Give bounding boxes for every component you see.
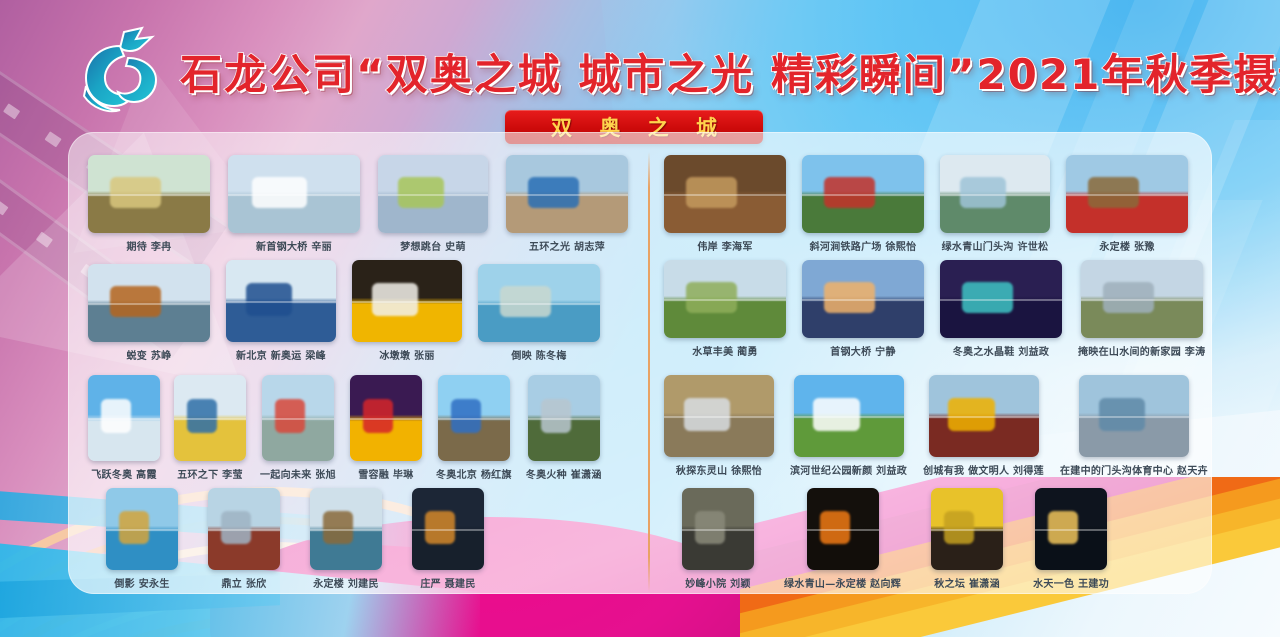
photo-item[interactable]: 冬奥之水晶鞋 刘益政: [940, 260, 1062, 358]
photo-caption: 秋探东灵山 徐熙怡: [676, 462, 762, 477]
photo-horizon: [931, 529, 1003, 531]
photo-thumbnail[interactable]: [88, 155, 210, 233]
photo-horizon: [940, 299, 1062, 301]
photo-item[interactable]: 冬奥北京 杨红旗: [436, 375, 512, 481]
photo-accent-shape: [110, 177, 161, 208]
photo-accent-shape: [813, 398, 859, 431]
photo-row: 飞跃冬奥 高霞五环之下 李莹一起向未来 张旭雪容融 毕琳冬奥北京 杨红旗冬奥火种…: [88, 375, 602, 481]
photo-item[interactable]: 新首钢大桥 辛丽: [228, 155, 360, 253]
photo-item[interactable]: 在建中的门头沟体育中心 赵天卉: [1060, 375, 1208, 477]
photo-caption: 庄严 聂建民: [420, 575, 475, 590]
photo-accent-shape: [363, 399, 393, 433]
photo-thumbnail[interactable]: [174, 375, 246, 461]
photo-accent-shape: [960, 177, 1006, 208]
photo-caption: 新首钢大桥 辛丽: [256, 238, 332, 253]
photo-item[interactable]: 创城有我 做文明人 刘得莲: [923, 375, 1044, 477]
photo-accent-shape: [398, 177, 444, 208]
photo-horizon: [174, 418, 246, 420]
photo-accent-shape: [695, 511, 725, 544]
photo-caption: 梦想跳台 史萌: [400, 238, 466, 253]
photo-horizon: [352, 301, 462, 303]
photo-horizon: [378, 194, 488, 196]
photo-item[interactable]: 飞跃冬奥 高霞: [88, 375, 160, 481]
photo-item[interactable]: 水草丰美 蔺勇: [664, 260, 786, 358]
photo-item[interactable]: 一起向未来 张旭: [260, 375, 336, 481]
photo-item[interactable]: 五环之光 胡志萍: [506, 155, 628, 253]
photo-caption: 秋之坛 崔潇涵: [934, 575, 1000, 590]
photo-accent-shape: [425, 511, 455, 544]
photo-caption: 雪容融 毕琳: [358, 466, 413, 481]
photo-caption: 冰墩墩 张丽: [379, 347, 434, 362]
photo-caption: 鼎立 张欣: [222, 575, 267, 590]
photo-item[interactable]: 秋探东灵山 徐熙怡: [664, 375, 774, 477]
photo-caption: 滨河世纪公园新颜 刘益政: [790, 462, 907, 477]
photo-item[interactable]: 首钢大桥 宁静: [802, 260, 924, 358]
page-title: 石龙公司“双奥之城 城市之光 精彩瞬间”2021年秋季摄影展: [180, 44, 1210, 106]
photo-horizon: [929, 416, 1039, 418]
photo-accent-shape: [323, 511, 353, 544]
photo-accent-shape: [110, 286, 161, 317]
photo-item[interactable]: 冬奥火种 崔潇涵: [526, 375, 602, 481]
photo-horizon: [262, 418, 334, 420]
photo-caption: 永定楼 刘建民: [313, 575, 379, 590]
photo-thumbnail[interactable]: [208, 488, 280, 570]
photo-accent-shape: [686, 282, 737, 313]
photo-accent-shape: [187, 399, 217, 433]
photo-horizon: [664, 299, 786, 301]
photo-thumbnail[interactable]: [506, 155, 628, 233]
photo-thumbnail[interactable]: [226, 260, 336, 342]
photo-horizon: [664, 194, 786, 196]
photo-accent-shape: [684, 398, 730, 431]
photo-accent-shape: [541, 399, 571, 433]
photo-caption: 斜河涧铁路广场 徐熙怡: [810, 238, 917, 253]
photo-caption: 期待 李冉: [127, 238, 172, 253]
photo-thumbnail[interactable]: [1066, 155, 1188, 233]
photo-caption: 蜕变 苏峥: [127, 347, 172, 362]
photo-thumbnail[interactable]: [794, 375, 904, 457]
photo-thumbnail[interactable]: [940, 260, 1062, 338]
photo-thumbnail[interactable]: [664, 375, 774, 457]
photo-caption: 五环之光 胡志萍: [529, 238, 605, 253]
photo-item[interactable]: 倒映 陈冬梅: [478, 264, 600, 362]
photo-accent-shape: [252, 177, 307, 208]
photo-caption: 首钢大桥 宁静: [830, 343, 896, 358]
photo-caption: 冬奥火种 崔潇涵: [526, 466, 602, 481]
photo-row: 秋探东灵山 徐熙怡滨河世纪公园新颜 刘益政创城有我 做文明人 刘得莲在建中的门头…: [664, 375, 1208, 477]
photo-thumbnail[interactable]: [929, 375, 1039, 457]
photo-accent-shape: [451, 399, 481, 433]
photo-horizon: [88, 194, 210, 196]
photo-thumbnail[interactable]: [802, 155, 924, 233]
poster-canvas: 石龙公司“双奥之城 城市之光 精彩瞬间”2021年秋季摄影展 双 奥 之 城 期…: [0, 0, 1280, 637]
photo-caption: 飞跃冬奥 高霞: [91, 466, 157, 481]
photo-caption: 在建中的门头沟体育中心 赵天卉: [1060, 462, 1208, 477]
photo-accent-shape: [962, 282, 1013, 313]
photo-horizon: [802, 194, 924, 196]
photo-item[interactable]: 庄严 聂建民: [412, 488, 484, 590]
photo-row: 期待 李冉新首钢大桥 辛丽梦想跳台 史萌五环之光 胡志萍: [88, 155, 628, 253]
photo-horizon: [88, 303, 210, 305]
photo-horizon: [1079, 416, 1189, 418]
photo-accent-shape: [1099, 398, 1145, 431]
photo-item[interactable]: 期待 李冉: [88, 155, 210, 253]
photo-horizon: [208, 529, 280, 531]
photo-thumbnail[interactable]: [940, 155, 1050, 233]
photo-row: 倒影 安永生鼎立 张欣永定楼 刘建民庄严 聂建民: [106, 488, 484, 590]
photo-thumbnail[interactable]: [106, 488, 178, 570]
photo-horizon: [412, 529, 484, 531]
photo-item[interactable]: 冰墩墩 张丽: [352, 260, 462, 362]
photo-accent-shape: [246, 283, 292, 316]
photo-item[interactable]: 永定楼 张豫: [1066, 155, 1188, 253]
photo-item[interactable]: 秋之坛 崔潇涵: [931, 488, 1003, 590]
photo-caption: 掩映在山水间的新家园 李涛: [1078, 343, 1205, 358]
photo-item[interactable]: 梦想跳台 史萌: [378, 155, 488, 253]
photo-accent-shape: [824, 282, 875, 313]
photo-caption: 水草丰美 蔺勇: [692, 343, 758, 358]
photo-item[interactable]: 蜕变 苏峥: [88, 264, 210, 362]
photo-caption: 绿水青山—永定楼 赵向辉: [784, 575, 901, 590]
photo-accent-shape: [820, 511, 850, 544]
photo-caption: 伟岸 李海军: [697, 238, 752, 253]
photo-thumbnail[interactable]: [1035, 488, 1107, 570]
photo-item[interactable]: 水天一色 王建功: [1033, 488, 1109, 590]
photo-horizon: [682, 529, 754, 531]
photo-accent-shape: [686, 177, 737, 208]
photo-thumbnail[interactable]: [528, 375, 600, 461]
photo-accent-shape: [528, 177, 579, 208]
photo-item[interactable]: 妙峰小院 刘颖: [682, 488, 754, 590]
photo-horizon: [106, 529, 178, 531]
photo-caption: 倒影 安永生: [114, 575, 169, 590]
photo-caption: 倒映 陈冬梅: [511, 347, 566, 362]
photo-horizon: [228, 194, 360, 196]
photo-horizon: [1066, 194, 1188, 196]
photo-accent-shape: [944, 511, 974, 544]
photo-horizon: [478, 303, 600, 305]
photo-accent-shape: [221, 511, 251, 544]
photo-item[interactable]: 永定楼 刘建民: [310, 488, 382, 590]
photo-row: 妙峰小院 刘颖绿水青山—永定楼 赵向辉秋之坛 崔潇涵水天一色 王建功: [682, 488, 1109, 590]
photo-caption: 水天一色 王建功: [1033, 575, 1109, 590]
photo-horizon: [350, 418, 422, 420]
photo-horizon: [438, 418, 510, 420]
photo-thumbnail[interactable]: [88, 375, 160, 461]
photo-thumbnail[interactable]: [352, 260, 462, 342]
photo-thumbnail[interactable]: [262, 375, 334, 461]
column-divider: [648, 152, 650, 592]
photo-horizon: [802, 299, 924, 301]
photo-caption: 一起向未来 张旭: [260, 466, 336, 481]
photo-horizon: [88, 418, 160, 420]
photo-thumbnail[interactable]: [350, 375, 422, 461]
photo-row: 伟岸 李海军斜河涧铁路广场 徐熙怡绿水青山门头沟 许世松永定楼 张豫: [664, 155, 1188, 253]
photo-accent-shape: [275, 399, 305, 433]
photo-horizon: [794, 416, 904, 418]
photo-item[interactable]: 五环之下 李莹: [174, 375, 246, 481]
photo-horizon: [807, 529, 879, 531]
photo-accent-shape: [119, 511, 149, 544]
photo-thumbnail[interactable]: [1079, 375, 1189, 457]
photo-thumbnail[interactable]: [807, 488, 879, 570]
photo-thumbnail[interactable]: [412, 488, 484, 570]
photo-item[interactable]: 雪容融 毕琳: [350, 375, 422, 481]
photo-accent-shape: [824, 177, 875, 208]
photo-thumbnail[interactable]: [378, 155, 488, 233]
photo-caption: 五环之下 李莹: [177, 466, 243, 481]
photo-row: 蜕变 苏峥新北京 新奥运 梁峰冰墩墩 张丽倒映 陈冬梅: [88, 260, 600, 362]
photo-item[interactable]: 绿水青山门头沟 许世松: [940, 155, 1050, 253]
photo-item[interactable]: 斜河涧铁路广场 徐熙怡: [802, 155, 924, 253]
photo-thumbnail[interactable]: [802, 260, 924, 338]
photo-accent-shape: [1103, 282, 1154, 313]
photo-accent-shape: [372, 283, 418, 316]
photo-caption: 绿水青山门头沟 许世松: [942, 238, 1049, 253]
photo-horizon: [506, 194, 628, 196]
photo-accent-shape: [101, 399, 131, 433]
photo-horizon: [528, 418, 600, 420]
photo-item[interactable]: 鼎立 张欣: [208, 488, 280, 590]
photo-thumbnail[interactable]: [478, 264, 600, 342]
photo-item[interactable]: 倒影 安永生: [106, 488, 178, 590]
photo-item[interactable]: 绿水青山—永定楼 赵向辉: [784, 488, 901, 590]
photo-thumbnail[interactable]: [88, 264, 210, 342]
photo-caption: 创城有我 做文明人 刘得莲: [923, 462, 1044, 477]
photo-horizon: [1081, 299, 1203, 301]
photo-horizon: [664, 416, 774, 418]
photo-caption: 新北京 新奥运 梁峰: [236, 347, 326, 362]
photo-item[interactable]: 掩映在山水间的新家园 李涛: [1078, 260, 1205, 358]
photo-item[interactable]: 滨河世纪公园新颜 刘益政: [790, 375, 907, 477]
photo-caption: 永定楼 张豫: [1099, 238, 1154, 253]
photo-horizon: [310, 529, 382, 531]
photo-caption: 妙峰小院 刘颖: [685, 575, 751, 590]
photo-accent-shape: [1088, 177, 1139, 208]
photo-thumbnail[interactable]: [664, 260, 786, 338]
photo-thumbnail[interactable]: [931, 488, 1003, 570]
photo-accent-shape: [1048, 511, 1078, 544]
photo-item[interactable]: 伟岸 李海军: [664, 155, 786, 253]
photo-horizon: [940, 194, 1050, 196]
photo-accent-shape: [500, 286, 551, 317]
photo-caption: 冬奥之水晶鞋 刘益政: [953, 343, 1049, 358]
shilong-dragon-logo-icon: [64, 26, 174, 114]
photo-row: 水草丰美 蔺勇首钢大桥 宁静冬奥之水晶鞋 刘益政掩映在山水间的新家园 李涛: [664, 260, 1205, 358]
photo-thumbnail[interactable]: [1081, 260, 1203, 338]
photo-thumbnail[interactable]: [664, 155, 786, 233]
photo-accent-shape: [948, 398, 994, 431]
photo-caption: 冬奥北京 杨红旗: [436, 466, 512, 481]
photo-horizon: [1035, 529, 1107, 531]
photo-thumbnail[interactable]: [228, 155, 360, 233]
photo-item[interactable]: 新北京 新奥运 梁峰: [226, 260, 336, 362]
photo-thumbnail[interactable]: [682, 488, 754, 570]
photo-thumbnail[interactable]: [438, 375, 510, 461]
photo-horizon: [226, 301, 336, 303]
photo-thumbnail[interactable]: [310, 488, 382, 570]
